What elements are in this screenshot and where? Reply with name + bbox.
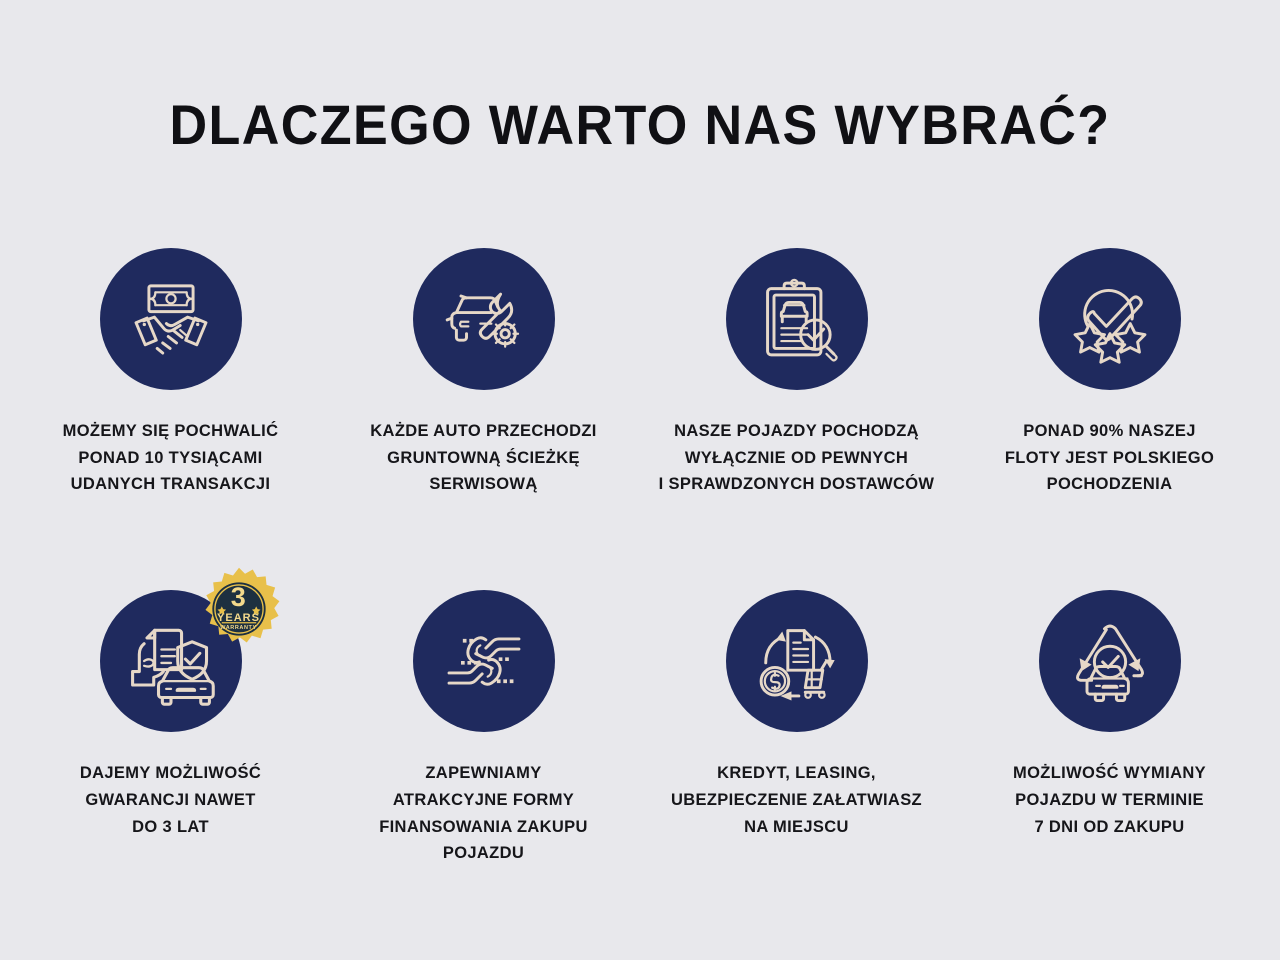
icon-badge-wrap <box>726 248 868 390</box>
feature-caption: ZAPEWNIAMY ATRAKCYJNE FORMY FINANSOWANIA… <box>379 760 588 867</box>
feature-caption: NASZE POJAZDY POCHODZĄ WYŁĄCZNIE OD PEWN… <box>659 418 935 498</box>
feature-caption: DAJEMY MOŻLIWOŚĆ GWARANCJI NAWET DO 3 LA… <box>80 760 261 840</box>
icon-circle <box>726 248 868 390</box>
warranty-seal: 3 YEARS WARRANTY <box>196 566 282 652</box>
feature-item-suppliers: NASZE POJAZDY POCHODZĄ WYŁĄCZNIE OD PEWN… <box>640 248 953 498</box>
icon-badge-wrap <box>413 248 555 390</box>
handshake-money-icon <box>125 273 217 365</box>
clipboard-car-magnifier-check-icon <box>751 273 843 365</box>
feature-item-credit-leasing: KREDYT, LEASING, UBEZPIECZENIE ZAŁATWIAS… <box>640 590 953 867</box>
icon-circle <box>413 590 555 732</box>
document-coin-cart-cycle-icon <box>751 615 843 707</box>
icon-badge-wrap <box>100 248 242 390</box>
icon-circle <box>1039 248 1181 390</box>
icon-badge-wrap: 3 YEARS WARRANTY <box>100 590 242 732</box>
icon-circle <box>726 590 868 732</box>
icon-circle <box>413 248 555 390</box>
feature-caption: KREDYT, LEASING, UBEZPIECZENIE ZAŁATWIAS… <box>671 760 922 840</box>
car-wrench-gear-icon <box>438 273 530 365</box>
icon-badge-wrap <box>1039 590 1181 732</box>
feature-item-service: KAŻDE AUTO PRZECHODZI GRUNTOWNĄ ŚCIEŻKĘ … <box>327 248 640 498</box>
feature-caption: MOŻLIWOŚĆ WYMIANY POJAZDU W TERMINIE 7 D… <box>1013 760 1206 840</box>
hands-cash-exchange-icon <box>438 615 530 707</box>
feature-item-polish-fleet: PONAD 90% NASZEJ FLOTY JEST POLSKIEGO PO… <box>953 248 1266 498</box>
features-grid: MOŻEMY SIĘ POCHWALIĆ PONAD 10 TYSIĄCAMI … <box>0 248 1280 867</box>
icon-circle <box>100 248 242 390</box>
check-stars-icon <box>1064 273 1156 365</box>
icon-badge-wrap <box>413 590 555 732</box>
icon-circle <box>1039 590 1181 732</box>
car-exchange-check-icon <box>1064 615 1156 707</box>
icon-badge-wrap <box>726 590 868 732</box>
promo-page: DLACZEGO WARTO NAS WYBRAĆ? <box>0 0 1280 960</box>
icon-badge-wrap <box>1039 248 1181 390</box>
feature-item-warranty: 3 YEARS WARRANTY DAJEMY MOŻLIWOŚĆ GWARAN… <box>14 590 327 867</box>
feature-item-financing: ZAPEWNIAMY ATRAKCYJNE FORMY FINANSOWANIA… <box>327 590 640 867</box>
feature-caption: PONAD 90% NASZEJ FLOTY JEST POLSKIEGO PO… <box>1005 418 1214 498</box>
feature-item-transactions: MOŻEMY SIĘ POCHWALIĆ PONAD 10 TYSIĄCAMI … <box>14 248 327 498</box>
page-title: DLACZEGO WARTO NAS WYBRAĆ? <box>45 92 1235 157</box>
seal-starburst-icon <box>196 566 282 652</box>
feature-item-exchange: MOŻLIWOŚĆ WYMIANY POJAZDU W TERMINIE 7 D… <box>953 590 1266 867</box>
feature-caption: KAŻDE AUTO PRZECHODZI GRUNTOWNĄ ŚCIEŻKĘ … <box>370 418 596 498</box>
feature-caption: MOŻEMY SIĘ POCHWALIĆ PONAD 10 TYSIĄCAMI … <box>63 418 279 498</box>
